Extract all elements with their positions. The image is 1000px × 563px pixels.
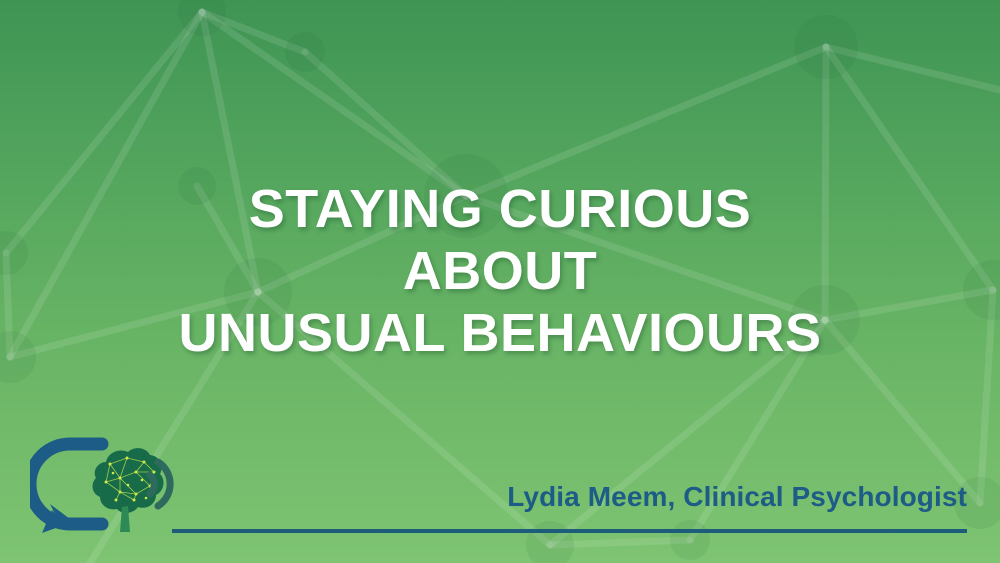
network-node: [178, 0, 226, 36]
title-slide: STAYING CURIOUS ABOUT UNUSUAL BEHAVIOURS…: [0, 0, 1000, 563]
page-title: STAYING CURIOUS ABOUT UNUSUAL BEHAVIOURS: [0, 178, 1000, 364]
network-node: [526, 521, 574, 563]
network-edge: [826, 47, 1000, 90]
title-line-3: UNUSUAL BEHAVIOURS: [0, 302, 1000, 364]
network-edge: [202, 12, 305, 52]
network-edge: [550, 540, 690, 545]
byline-underline-rule: [172, 529, 967, 533]
presenter-byline: Lydia Meem, Clinical Psychologist: [507, 481, 967, 513]
title-line-2: ABOUT: [0, 240, 1000, 302]
network-node: [285, 32, 325, 72]
speech-bubble-icon: [30, 444, 102, 533]
network-edge: [202, 12, 466, 196]
network-node: [670, 520, 710, 560]
title-line-1: STAYING CURIOUS: [0, 178, 1000, 240]
network-edge: [466, 47, 826, 196]
network-edge: [305, 52, 466, 196]
brand-logo: [30, 428, 190, 538]
network-node: [794, 15, 858, 79]
